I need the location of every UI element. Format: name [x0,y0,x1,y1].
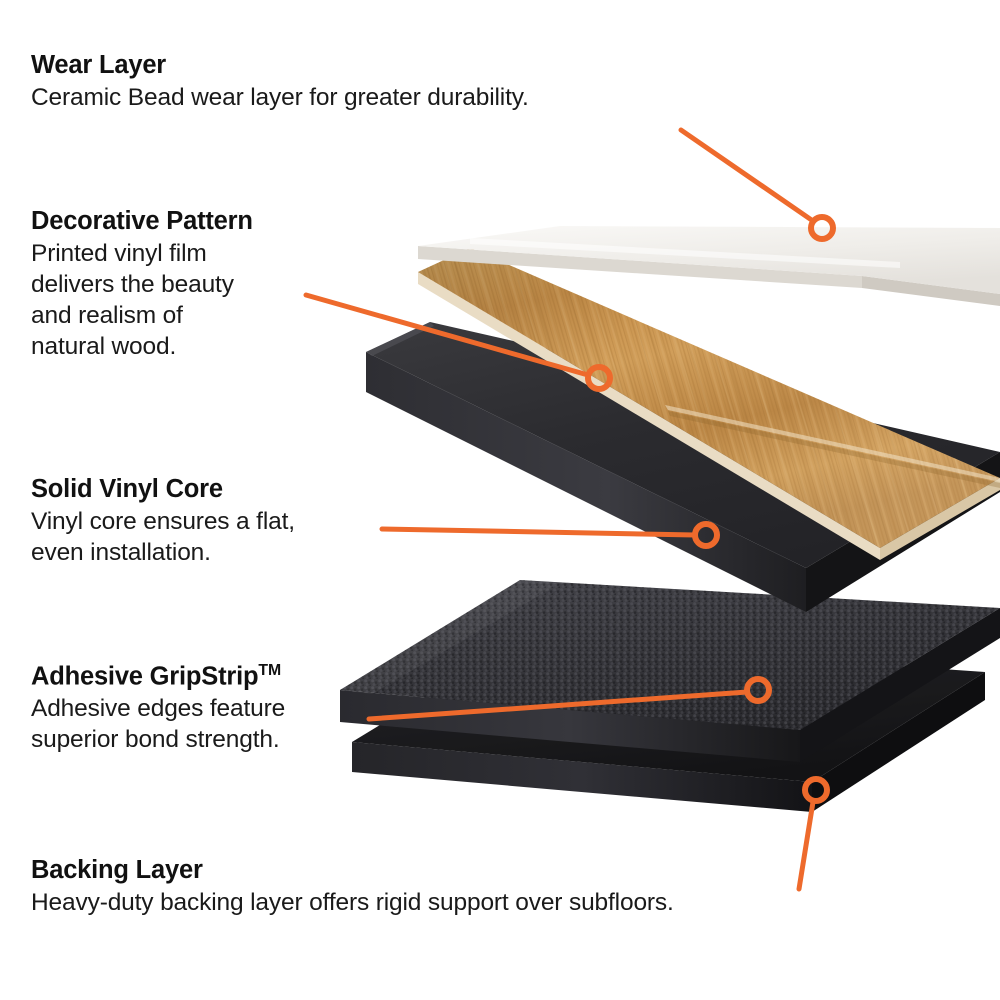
callout-adhesive-gripstrip-body: Adhesive edges feature superior bond str… [31,693,411,755]
callout-adhesive-gripstrip: Adhesive GripStripTM Adhesive edges feat… [31,662,411,755]
callout-backing-layer: Backing Layer Heavy-duty backing layer o… [31,856,931,918]
callout-solid-vinyl-core: Solid Vinyl Core Vinyl core ensures a fl… [31,475,401,568]
callout-wear-layer-title: Wear Layer [31,51,711,80]
callout-decorative-pattern-title: Decorative Pattern [31,207,331,236]
leader-line-wear-layer [681,130,833,239]
trademark-symbol: TM [258,662,281,679]
callout-solid-vinyl-core-body: Vinyl core ensures a flat, even installa… [31,506,401,568]
callout-backing-layer-title: Backing Layer [31,856,931,885]
callout-backing-layer-body: Heavy-duty backing layer offers rigid su… [31,887,931,918]
callout-decorative-pattern: Decorative Pattern Printed vinyl film de… [31,207,331,362]
callout-solid-vinyl-core-title: Solid Vinyl Core [31,475,401,504]
callout-adhesive-gripstrip-title-text: Adhesive GripStrip [31,663,258,691]
diagram-canvas: Wear Layer Ceramic Bead wear layer for g… [0,0,1000,1000]
callout-wear-layer: Wear Layer Ceramic Bead wear layer for g… [31,51,711,113]
callout-wear-layer-body: Ceramic Bead wear layer for greater dura… [31,82,711,113]
callout-adhesive-gripstrip-title: Adhesive GripStripTM [31,662,411,691]
callout-decorative-pattern-body: Printed vinyl film delivers the beauty a… [31,238,331,362]
